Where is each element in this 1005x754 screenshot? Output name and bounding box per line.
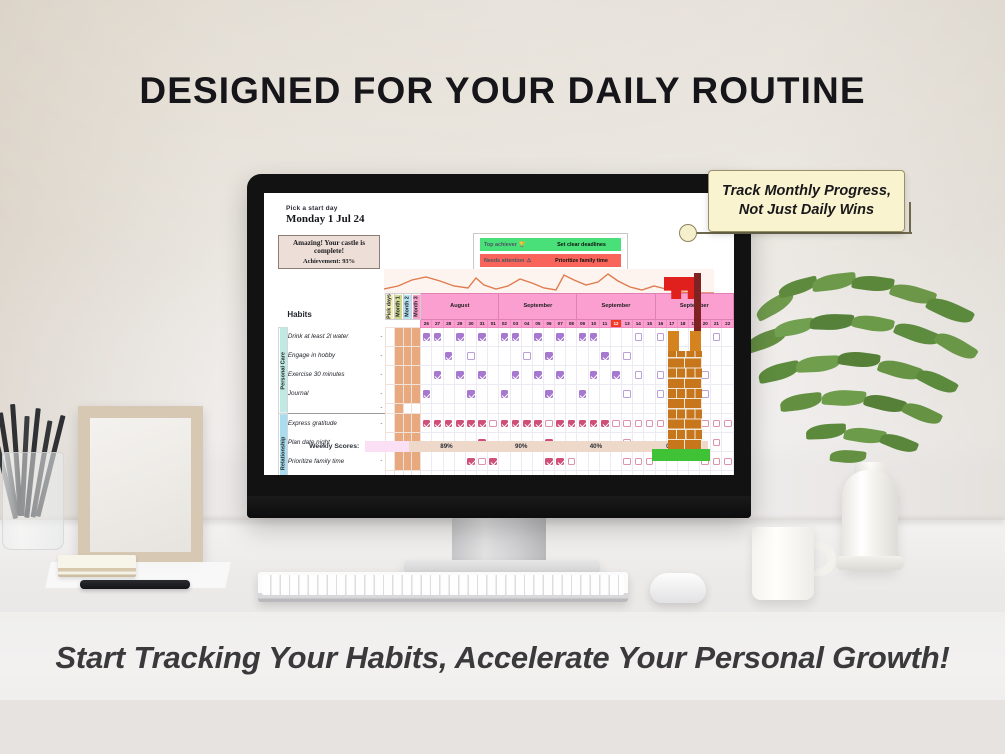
legend-top-label: Top achiever <box>484 242 517 248</box>
habit-checkbox-cell[interactable] <box>566 452 577 471</box>
checked-checkbox-icon[interactable] <box>456 420 464 428</box>
empty-checkbox-icon[interactable] <box>489 420 497 428</box>
habit-checkbox-cell[interactable] <box>488 452 499 471</box>
day-header-2-4: 13 <box>622 319 633 327</box>
checked-checkbox-icon[interactable] <box>534 371 542 379</box>
habit-checkbox-cell[interactable] <box>610 346 621 365</box>
empty-checkbox-icon[interactable] <box>635 458 643 466</box>
weekly-scores-label: Weekly Scores: <box>278 443 365 450</box>
habit-checkbox-cell[interactable] <box>499 384 510 403</box>
habit-checkbox-cell[interactable] <box>443 327 454 346</box>
month-header-1: September <box>499 294 577 320</box>
month-mini-cell-2[interactable] <box>403 346 412 365</box>
habit-checkbox-cell[interactable] <box>421 414 432 433</box>
castle-grass-base <box>652 449 710 461</box>
month-mini-cell-3[interactable] <box>412 414 421 433</box>
flower-vase <box>842 470 898 570</box>
habit-checkbox-cell[interactable] <box>543 452 554 471</box>
habit-checkbox-cell[interactable] <box>622 452 633 471</box>
habit-checkbox-cell[interactable] <box>599 327 610 346</box>
habit-checkbox-cell[interactable] <box>610 471 621 475</box>
habit-tracker-spreadsheet[interactable]: Pick a start day Monday 1 Jul 24 Amazing… <box>264 193 734 475</box>
callout-box: Track Monthly Progress, Not Just Daily W… <box>708 170 905 232</box>
habit-checkbox-cell[interactable] <box>610 327 621 346</box>
month-mini-cell-1[interactable] <box>394 384 403 403</box>
habit-checkbox-cell[interactable] <box>543 346 554 365</box>
habit-checkbox-cell[interactable] <box>622 346 633 365</box>
habit-checkbox-cell[interactable] <box>610 365 621 384</box>
habit-label[interactable] <box>287 471 378 475</box>
habit-checkbox-cell[interactable] <box>421 384 432 403</box>
checked-checkbox-icon[interactable] <box>556 333 564 341</box>
habit-checkbox-cell[interactable] <box>588 452 599 471</box>
checked-checkbox-icon[interactable] <box>523 420 531 428</box>
habit-checkbox-cell[interactable] <box>521 471 532 475</box>
habit-checkbox-cell[interactable] <box>555 384 566 403</box>
checked-checkbox-icon[interactable] <box>456 333 464 341</box>
habit-checkbox-cell[interactable] <box>622 327 633 346</box>
habit-checkbox-cell[interactable] <box>499 414 510 433</box>
checked-checkbox-icon[interactable] <box>467 420 475 428</box>
habit-checkbox-cell[interactable] <box>488 327 499 346</box>
checked-checkbox-icon[interactable] <box>434 420 442 428</box>
habit-checkbox-cell[interactable] <box>566 346 577 365</box>
checked-checkbox-icon[interactable] <box>501 390 509 398</box>
habit-checkbox-cell[interactable] <box>622 471 633 475</box>
month-mini-cell-1[interactable] <box>394 403 403 414</box>
habit-checkbox-cell[interactable] <box>443 365 454 384</box>
habit-checkbox-cell[interactable] <box>521 403 532 414</box>
habit-checkbox-cell[interactable] <box>465 414 476 433</box>
habit-checkbox-cell[interactable] <box>577 346 588 365</box>
habit-checkbox-cell[interactable] <box>510 327 521 346</box>
empty-checkbox-icon[interactable] <box>612 420 620 428</box>
habit-checkbox-cell[interactable] <box>454 403 465 414</box>
month-mini-cell-2[interactable] <box>403 403 412 414</box>
habit-checkbox-cell[interactable] <box>421 471 432 475</box>
habit-checkbox-cell[interactable] <box>443 452 454 471</box>
habit-checkbox-cell[interactable] <box>610 414 621 433</box>
habit-checkbox-cell[interactable] <box>599 452 610 471</box>
habit-checkbox-cell[interactable] <box>610 452 621 471</box>
habit-checkbox-cell[interactable] <box>599 471 610 475</box>
habit-checkbox-cell[interactable] <box>577 452 588 471</box>
month-mini-cell-3[interactable] <box>412 327 421 346</box>
habit-checkbox-cell[interactable] <box>599 403 610 414</box>
checked-checkbox-icon[interactable] <box>445 352 453 360</box>
empty-checkbox-icon[interactable] <box>623 352 631 360</box>
checked-checkbox-icon[interactable] <box>467 458 475 466</box>
habit-checkbox-cell[interactable] <box>432 414 443 433</box>
habit-checkbox-cell[interactable] <box>465 452 476 471</box>
checked-checkbox-icon[interactable] <box>568 420 576 428</box>
habit-checkbox-cell[interactable] <box>421 452 432 471</box>
habit-checkbox-cell[interactable] <box>521 346 532 365</box>
habit-checkbox-cell[interactable] <box>577 384 588 403</box>
habit-checkbox-cell[interactable] <box>432 365 443 384</box>
habit-checkbox-cell[interactable] <box>599 414 610 433</box>
habit-checkbox-cell[interactable] <box>454 365 465 384</box>
day-header-2-1: 10 <box>588 319 599 327</box>
habit-checkbox-cell[interactable] <box>521 384 532 403</box>
legend-att-note: Prioritize family time <box>546 258 617 264</box>
checked-checkbox-icon[interactable] <box>579 390 587 398</box>
month-mini-cell-2[interactable] <box>403 452 412 471</box>
month-mini-cell-3[interactable] <box>412 471 421 475</box>
habit-checkbox-cell[interactable] <box>599 346 610 365</box>
habit-checkbox-cell[interactable] <box>454 452 465 471</box>
habit-checkbox-cell[interactable] <box>521 365 532 384</box>
habit-label[interactable]: Prioritize family time <box>287 452 378 471</box>
habit-checkbox-cell[interactable] <box>543 403 554 414</box>
habit-checkbox-cell[interactable] <box>488 346 499 365</box>
habit-checkbox-cell[interactable] <box>566 403 577 414</box>
checked-checkbox-icon[interactable] <box>590 333 598 341</box>
empty-checkbox-icon[interactable] <box>724 420 732 428</box>
habit-checkbox-cell[interactable] <box>532 414 543 433</box>
habit-checkbox-cell[interactable] <box>421 365 432 384</box>
pick-days-cell[interactable] <box>385 327 394 346</box>
habit-checkbox-cell[interactable] <box>689 471 700 475</box>
pencil-jar <box>2 452 64 550</box>
habit-checkbox-cell[interactable] <box>543 365 554 384</box>
month-mini-cell-1[interactable] <box>394 452 403 471</box>
habit-checkbox-cell[interactable] <box>521 452 532 471</box>
habit-checkbox-cell[interactable] <box>432 452 443 471</box>
empty-checkbox-icon[interactable] <box>467 352 475 360</box>
habit-checkbox-cell[interactable] <box>421 327 432 346</box>
checked-checkbox-icon[interactable] <box>534 420 542 428</box>
pick-days-cell[interactable] <box>385 471 394 475</box>
pick-days-cell[interactable] <box>385 346 394 365</box>
habit-checkbox-cell[interactable] <box>499 471 510 475</box>
habit-label[interactable]: Engage in hobby <box>287 346 378 365</box>
habit-label[interactable]: Drink at least 2l water <box>287 327 378 346</box>
habit-checkbox-cell[interactable] <box>543 384 554 403</box>
habit-checkbox-cell[interactable] <box>477 327 488 346</box>
checked-checkbox-icon[interactable] <box>501 420 509 428</box>
habit-checkbox-cell[interactable] <box>521 414 532 433</box>
habit-checkbox-cell[interactable] <box>532 403 543 414</box>
habit-checkbox-cell[interactable] <box>666 471 677 475</box>
checked-checkbox-icon[interactable] <box>601 352 609 360</box>
empty-checkbox-icon[interactable] <box>545 420 553 428</box>
habit-checkbox-cell[interactable] <box>555 346 566 365</box>
habit-label[interactable] <box>287 403 378 414</box>
checked-checkbox-icon[interactable] <box>423 420 431 428</box>
checked-checkbox-icon[interactable] <box>590 371 598 379</box>
mouse[interactable] <box>650 573 706 603</box>
day-header-2-5: 14 <box>633 319 644 327</box>
habit-checkbox-cell[interactable] <box>622 403 633 414</box>
habit-checkbox-cell[interactable] <box>555 471 566 475</box>
checked-checkbox-icon[interactable] <box>478 371 486 379</box>
month-mini-cell-1[interactable] <box>394 471 403 475</box>
dash-corner-2 <box>378 319 386 327</box>
habit-checkbox-cell[interactable] <box>566 327 577 346</box>
habit-checkbox-cell[interactable] <box>722 471 734 475</box>
habit-checkbox-cell[interactable] <box>465 384 476 403</box>
monitor-screen[interactable]: Pick a start day Monday 1 Jul 24 Amazing… <box>264 193 734 475</box>
empty-checkbox-icon[interactable] <box>568 458 576 466</box>
pick-days-cell[interactable] <box>385 414 394 433</box>
habit-checkbox-cell[interactable] <box>521 327 532 346</box>
checked-checkbox-icon[interactable] <box>423 333 431 341</box>
habit-checkbox-cell[interactable] <box>421 346 432 365</box>
habit-label[interactable]: Express gratitude <box>287 414 378 433</box>
habit-checkbox-cell[interactable] <box>610 384 621 403</box>
habit-checkbox-cell[interactable] <box>465 403 476 414</box>
habit-checkbox-cell[interactable] <box>555 414 566 433</box>
empty-checkbox-icon[interactable] <box>623 420 631 428</box>
monitor-stand-neck <box>452 518 546 564</box>
habit-checkbox-cell[interactable] <box>443 471 454 475</box>
habit-checkbox-cell[interactable] <box>633 384 644 403</box>
empty-checkbox-icon[interactable] <box>635 371 643 379</box>
checked-checkbox-icon[interactable] <box>467 390 475 398</box>
habit-checkbox-cell[interactable] <box>499 403 510 414</box>
habit-checkbox-cell[interactable] <box>532 327 543 346</box>
habit-checkbox-cell[interactable] <box>599 365 610 384</box>
habit-checkbox-cell[interactable] <box>677 471 688 475</box>
habit-checkbox-cell[interactable] <box>454 327 465 346</box>
pick-days-cell[interactable] <box>385 452 394 471</box>
habit-checkbox-cell[interactable] <box>644 471 655 475</box>
habit-checkbox-cell[interactable] <box>421 403 432 414</box>
habit-checkbox-cell[interactable] <box>588 471 599 475</box>
habit-checkbox-cell[interactable] <box>488 414 499 433</box>
habit-checkbox-cell[interactable] <box>532 346 543 365</box>
checked-checkbox-icon[interactable] <box>423 390 431 398</box>
month-mini-cell-1[interactable] <box>394 414 403 433</box>
habit-checkbox-cell[interactable] <box>465 471 476 475</box>
habit-checkbox-cell[interactable] <box>510 346 521 365</box>
habit-checkbox-cell[interactable] <box>599 384 610 403</box>
checked-checkbox-icon[interactable] <box>556 420 564 428</box>
habit-checkbox-cell[interactable] <box>510 471 521 475</box>
habit-checkbox-cell[interactable] <box>555 365 566 384</box>
month-mini-cell-3[interactable] <box>412 403 421 414</box>
habit-checkbox-cell[interactable] <box>477 346 488 365</box>
habit-checkbox-cell[interactable] <box>577 365 588 384</box>
habit-checkbox-cell[interactable] <box>432 471 443 475</box>
month-mini-cell-2[interactable] <box>403 365 412 384</box>
habit-checkbox-cell[interactable] <box>477 414 488 433</box>
monitor: Pick a start day Monday 1 Jul 24 Amazing… <box>247 174 751 518</box>
month-mini-cell-3[interactable] <box>412 384 421 403</box>
habit-checkbox-cell[interactable] <box>454 346 465 365</box>
pick-days-cell[interactable] <box>385 384 394 403</box>
habit-checkbox-cell[interactable] <box>588 384 599 403</box>
month-mini-cell-2[interactable] <box>403 384 412 403</box>
habit-checkbox-cell[interactable] <box>577 471 588 475</box>
month-mini-cell-1[interactable] <box>394 346 403 365</box>
empty-checkbox-icon[interactable] <box>635 333 643 341</box>
habit-dash: - <box>378 403 386 414</box>
habit-checkbox-cell[interactable] <box>610 403 621 414</box>
habit-checkbox-cell[interactable] <box>477 384 488 403</box>
habit-checkbox-cell[interactable] <box>566 414 577 433</box>
month-mini-cell-3[interactable] <box>412 452 421 471</box>
habit-checkbox-cell[interactable] <box>588 346 599 365</box>
empty-checkbox-icon[interactable] <box>623 458 631 466</box>
checked-checkbox-icon[interactable] <box>601 420 609 428</box>
habit-checkbox-cell[interactable] <box>622 365 633 384</box>
keyboard[interactable] <box>258 572 628 602</box>
habit-checkbox-cell[interactable] <box>555 452 566 471</box>
habit-checkbox-cell[interactable] <box>555 403 566 414</box>
day-header-1-6: 08 <box>566 319 577 327</box>
month-mini-cell-2[interactable] <box>403 471 412 475</box>
day-header-1-0: 02 <box>499 319 510 327</box>
habit-checkbox-cell[interactable] <box>622 414 633 433</box>
month-mini-cell-1[interactable] <box>394 327 403 346</box>
habit-checkbox-cell[interactable] <box>633 327 644 346</box>
coffee-mug <box>752 527 814 600</box>
habit-checkbox-cell[interactable] <box>499 346 510 365</box>
habit-checkbox-cell[interactable] <box>633 471 644 475</box>
habit-checkbox-cell[interactable] <box>588 327 599 346</box>
habit-checkbox-cell[interactable] <box>488 365 499 384</box>
habit-checkbox-cell[interactable] <box>577 327 588 346</box>
habit-checkbox-cell[interactable] <box>588 403 599 414</box>
habit-checkbox-cell[interactable] <box>588 414 599 433</box>
habit-checkbox-cell[interactable] <box>432 346 443 365</box>
habit-checkbox-cell[interactable] <box>432 403 443 414</box>
habit-checkbox-cell[interactable] <box>477 365 488 384</box>
habit-checkbox-cell[interactable] <box>443 346 454 365</box>
pick-days-cell[interactable] <box>385 403 394 414</box>
empty-checkbox-icon[interactable] <box>478 458 486 466</box>
month-mini-cell-3[interactable] <box>412 365 421 384</box>
habit-checkbox-cell[interactable] <box>499 452 510 471</box>
checked-checkbox-icon[interactable] <box>612 371 620 379</box>
habit-checkbox-cell[interactable] <box>477 452 488 471</box>
habit-label[interactable]: Journal <box>287 384 378 403</box>
habit-checkbox-cell[interactable] <box>465 327 476 346</box>
habit-checkbox-cell[interactable] <box>532 365 543 384</box>
habit-checkbox-cell[interactable] <box>432 384 443 403</box>
habit-checkbox-cell[interactable] <box>543 471 554 475</box>
habit-checkbox-cell[interactable] <box>633 452 644 471</box>
habit-checkbox-cell[interactable] <box>543 414 554 433</box>
habit-checkbox-cell[interactable] <box>510 384 521 403</box>
habit-checkbox-cell[interactable] <box>488 403 499 414</box>
checked-checkbox-icon[interactable] <box>590 420 598 428</box>
month-mini-cell-2[interactable] <box>403 327 412 346</box>
habit-checkbox-cell[interactable] <box>488 471 499 475</box>
habit-checkbox-cell[interactable] <box>588 365 599 384</box>
plant-foliage <box>744 272 1002 482</box>
habit-checkbox-cell[interactable] <box>532 452 543 471</box>
checked-checkbox-icon[interactable] <box>478 420 486 428</box>
checked-checkbox-icon[interactable] <box>434 333 442 341</box>
habit-label[interactable]: Exercise 30 minutes <box>287 365 378 384</box>
habit-checkbox-cell[interactable] <box>577 403 588 414</box>
checked-checkbox-icon[interactable] <box>545 390 553 398</box>
habit-checkbox-cell[interactable] <box>510 403 521 414</box>
weekly-score-1: 90% <box>484 441 559 452</box>
habit-checkbox-cell[interactable] <box>655 471 666 475</box>
habit-checkbox-cell[interactable] <box>566 365 577 384</box>
checked-checkbox-icon[interactable] <box>579 333 587 341</box>
habit-checkbox-cell[interactable] <box>622 384 633 403</box>
checked-checkbox-icon[interactable] <box>501 333 509 341</box>
habit-checkbox-cell[interactable] <box>510 365 521 384</box>
habit-checkbox-cell[interactable] <box>700 471 711 475</box>
habit-checkbox-cell[interactable] <box>577 414 588 433</box>
habit-row[interactable]: - <box>279 471 734 475</box>
checked-checkbox-icon[interactable] <box>489 458 497 466</box>
habit-checkbox-cell[interactable] <box>499 327 510 346</box>
habit-checkbox-cell[interactable] <box>543 327 554 346</box>
habit-checkbox-cell[interactable] <box>633 403 644 414</box>
leader-dot <box>679 224 697 242</box>
habit-checkbox-cell[interactable] <box>454 471 465 475</box>
checked-checkbox-icon[interactable] <box>456 371 464 379</box>
habit-checkbox-cell[interactable] <box>633 346 644 365</box>
habit-dash: - <box>378 414 386 433</box>
checked-checkbox-icon[interactable] <box>512 371 520 379</box>
habit-checkbox-cell[interactable] <box>555 327 566 346</box>
habit-checkbox-cell[interactable] <box>633 414 644 433</box>
habit-checkbox-cell[interactable] <box>499 365 510 384</box>
empty-checkbox-icon[interactable] <box>635 420 643 428</box>
callout-leader-line <box>688 232 912 233</box>
checked-checkbox-icon[interactable] <box>534 333 542 341</box>
habit-checkbox-cell[interactable] <box>566 384 577 403</box>
month-mini-cell-1[interactable] <box>394 365 403 384</box>
checked-checkbox-icon[interactable] <box>445 420 453 428</box>
checked-checkbox-icon[interactable] <box>512 333 520 341</box>
habit-checkbox-cell[interactable] <box>477 471 488 475</box>
empty-checkbox-icon[interactable] <box>724 458 732 466</box>
habit-checkbox-cell[interactable] <box>454 384 465 403</box>
habit-checkbox-cell[interactable] <box>477 403 488 414</box>
month-mini-cell-3[interactable] <box>412 346 421 365</box>
checked-checkbox-icon[interactable] <box>478 333 486 341</box>
habit-checkbox-cell[interactable] <box>432 327 443 346</box>
habit-checkbox-cell[interactable] <box>465 365 476 384</box>
pick-days-cell[interactable] <box>385 365 394 384</box>
habit-checkbox-cell[interactable] <box>532 384 543 403</box>
habit-checkbox-cell[interactable] <box>443 384 454 403</box>
habit-checkbox-cell[interactable] <box>443 403 454 414</box>
habit-checkbox-cell[interactable] <box>465 346 476 365</box>
empty-checkbox-icon[interactable] <box>523 352 531 360</box>
habit-checkbox-cell[interactable] <box>443 414 454 433</box>
habit-checkbox-cell[interactable] <box>510 452 521 471</box>
checked-checkbox-icon[interactable] <box>579 420 587 428</box>
checked-checkbox-icon[interactable] <box>556 371 564 379</box>
habit-checkbox-cell[interactable] <box>454 414 465 433</box>
month-mini-cell-2[interactable] <box>403 414 412 433</box>
habit-checkbox-cell[interactable] <box>566 471 577 475</box>
habit-checkbox-cell[interactable] <box>532 471 543 475</box>
checked-checkbox-icon[interactable] <box>556 458 564 466</box>
habit-checkbox-cell[interactable] <box>488 384 499 403</box>
habit-checkbox-cell[interactable] <box>711 471 722 475</box>
habit-checkbox-cell[interactable] <box>633 365 644 384</box>
empty-checkbox-icon[interactable] <box>623 390 631 398</box>
checked-checkbox-icon[interactable] <box>512 420 520 428</box>
checked-checkbox-icon[interactable] <box>545 458 553 466</box>
checked-checkbox-icon[interactable] <box>545 352 553 360</box>
habit-checkbox-cell[interactable] <box>510 414 521 433</box>
checked-checkbox-icon[interactable] <box>434 371 442 379</box>
legend-top-note: Set clear deadlines <box>546 242 617 248</box>
start-day-value[interactable]: Monday 1 Jul 24 <box>286 213 365 225</box>
